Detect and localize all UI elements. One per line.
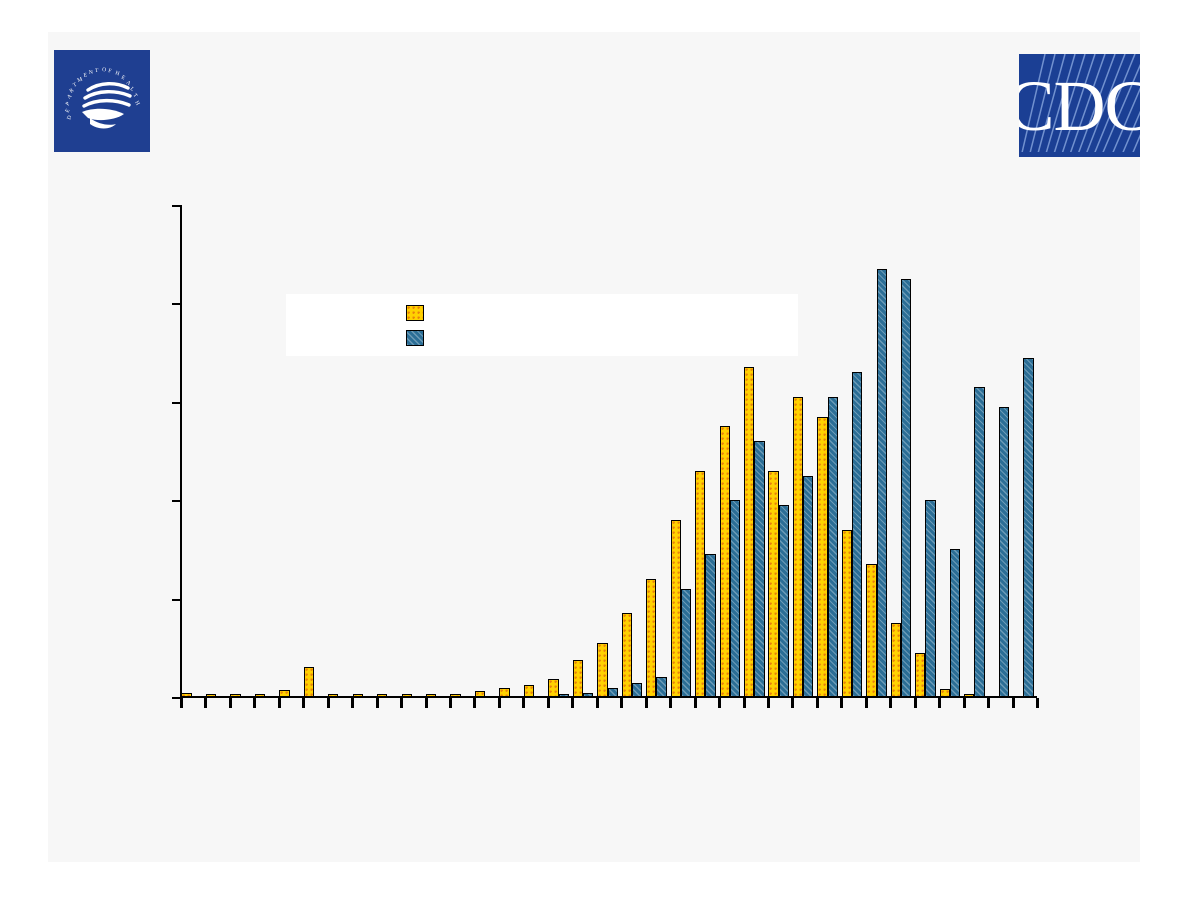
x-tick-17: [596, 698, 599, 708]
bar-series-yellow-23[interactable]: [720, 426, 730, 697]
x-tick-25: [791, 698, 794, 708]
bar-group[interactable]: [744, 205, 765, 697]
bar-series-blue-28[interactable]: [852, 372, 862, 697]
bar-series-yellow-12[interactable]: [450, 694, 460, 697]
x-tick-28: [865, 698, 868, 708]
bar-series-yellow-17[interactable]: [573, 660, 583, 697]
bar-group[interactable]: [793, 205, 814, 697]
x-tick-13: [498, 698, 501, 708]
x-tick-23: [743, 698, 746, 708]
bar-group[interactable]: [597, 205, 618, 697]
bar-group[interactable]: [279, 205, 300, 697]
bar-series-yellow-28[interactable]: [842, 530, 852, 697]
bar-series-yellow-5[interactable]: [279, 690, 289, 697]
bar-series-yellow-18[interactable]: [597, 643, 607, 697]
slide-canvas: D E P A R T M E N T O F H E A L T H: [48, 32, 1140, 862]
bar-group[interactable]: [646, 205, 667, 697]
y-tick-2: [172, 500, 180, 502]
bar-series-blue-26[interactable]: [803, 476, 813, 697]
x-tick-6: [327, 698, 330, 708]
bar-series-yellow-29[interactable]: [866, 564, 876, 697]
bar-series-blue-25[interactable]: [779, 505, 789, 697]
legend-entry-1: [406, 330, 434, 346]
x-tick-35: [1036, 698, 1039, 708]
x-tick-30: [914, 698, 917, 708]
bar-series-blue-22[interactable]: [705, 554, 715, 697]
bar-group[interactable]: [353, 205, 374, 697]
x-tick-31: [938, 698, 941, 708]
y-tick-3: [172, 402, 180, 404]
bar-series-blue-21[interactable]: [681, 589, 691, 697]
x-tick-19: [645, 698, 648, 708]
bar-group[interactable]: [891, 205, 912, 697]
bar-series-yellow-31[interactable]: [915, 653, 925, 697]
bar-group[interactable]: [695, 205, 716, 697]
bar-chart: [48, 32, 1140, 862]
bar-group[interactable]: [181, 205, 202, 697]
bar-group[interactable]: [622, 205, 643, 697]
yellow-dotted-swatch: [406, 305, 424, 321]
bar-series-blue-35[interactable]: [1023, 358, 1033, 697]
y-tick-1: [172, 599, 180, 601]
x-tick-34: [1012, 698, 1015, 708]
bar-group[interactable]: [304, 205, 325, 697]
bar-series-yellow-25[interactable]: [768, 471, 778, 697]
chart-legend: [286, 294, 798, 356]
x-tick-10: [425, 698, 428, 708]
x-tick-11: [449, 698, 452, 708]
x-tick-29: [889, 698, 892, 708]
bar-series-yellow-15[interactable]: [524, 685, 534, 697]
bar-group[interactable]: [255, 205, 276, 697]
bar-group[interactable]: [499, 205, 520, 697]
bar-group[interactable]: [573, 205, 594, 697]
bar-group[interactable]: [842, 205, 863, 697]
bar-group[interactable]: [720, 205, 741, 697]
bar-series-yellow-9[interactable]: [377, 694, 387, 697]
bar-series-yellow-8[interactable]: [353, 694, 363, 697]
bar-series-yellow-4[interactable]: [255, 694, 265, 697]
bar-group[interactable]: [230, 205, 251, 697]
bar-group[interactable]: [524, 205, 545, 697]
bar-series-blue-32[interactable]: [950, 549, 960, 697]
y-tick-0: [172, 697, 180, 699]
bar-series-yellow-27[interactable]: [817, 417, 827, 697]
bar-group[interactable]: [989, 205, 1010, 697]
x-tick-22: [718, 698, 721, 708]
bar-series-yellow-19[interactable]: [622, 613, 632, 697]
x-tick-20: [669, 698, 672, 708]
y-tick-4: [172, 303, 180, 305]
bar-series-blue-24[interactable]: [754, 441, 764, 697]
bar-series-yellow-11[interactable]: [426, 694, 436, 697]
bar-series-yellow-21[interactable]: [671, 520, 681, 697]
bar-series-blue-27[interactable]: [828, 397, 838, 697]
bar-group[interactable]: [671, 205, 692, 697]
bar-group[interactable]: [377, 205, 398, 697]
bar-series-yellow-10[interactable]: [402, 694, 412, 697]
x-tick-3: [253, 698, 256, 708]
bar-group[interactable]: [206, 205, 227, 697]
bar-group[interactable]: [328, 205, 349, 697]
bar-group[interactable]: [915, 205, 936, 697]
bar-series-yellow-1[interactable]: [181, 693, 191, 697]
bar-series-yellow-22[interactable]: [695, 471, 705, 697]
bar-series-blue-18[interactable]: [608, 688, 618, 697]
x-tick-2: [229, 698, 232, 708]
bar-series-blue-23[interactable]: [730, 500, 740, 697]
bar-series-blue-16[interactable]: [559, 694, 569, 697]
x-tick-16: [571, 698, 574, 708]
x-tick-4: [278, 698, 281, 708]
bar-series-blue-20[interactable]: [656, 677, 666, 697]
y-tick-5: [172, 205, 180, 207]
blue-hatched-swatch: [406, 330, 424, 346]
bar-series-blue-17[interactable]: [583, 693, 593, 697]
bar-series-blue-31[interactable]: [925, 500, 935, 697]
x-tick-24: [767, 698, 770, 708]
bar-group[interactable]: [866, 205, 887, 697]
bar-group[interactable]: [426, 205, 447, 697]
bar-group[interactable]: [768, 205, 789, 697]
x-tick-8: [376, 698, 379, 708]
plot-area: [180, 205, 1036, 697]
x-tick-27: [840, 698, 843, 708]
bar-group[interactable]: [964, 205, 985, 697]
bar-series-yellow-3[interactable]: [230, 694, 240, 697]
legend-entry-0: [406, 305, 434, 321]
x-tick-1: [204, 698, 207, 708]
x-tick-21: [694, 698, 697, 708]
bar-series-yellow-2[interactable]: [206, 694, 216, 697]
x-tick-14: [522, 698, 525, 708]
bar-series-blue-19[interactable]: [632, 683, 642, 697]
bar-group[interactable]: [1013, 205, 1034, 697]
bar-series-blue-34[interactable]: [999, 407, 1009, 697]
bar-series-yellow-13[interactable]: [475, 691, 485, 697]
bar-series-yellow-14[interactable]: [499, 688, 509, 697]
bar-series-blue-33[interactable]: [974, 387, 984, 697]
bar-series-blue-29[interactable]: [877, 269, 887, 697]
bar-series-yellow-20[interactable]: [646, 579, 656, 697]
x-tick-33: [987, 698, 990, 708]
bar-group[interactable]: [940, 205, 961, 697]
bar-series-yellow-33[interactable]: [964, 694, 974, 697]
bar-group[interactable]: [450, 205, 471, 697]
x-tick-18: [620, 698, 623, 708]
bar-series-yellow-6[interactable]: [304, 667, 314, 697]
bar-group-container: [180, 205, 1036, 697]
x-tick-7: [351, 698, 354, 708]
bar-series-yellow-26[interactable]: [793, 397, 803, 697]
bar-series-yellow-24[interactable]: [744, 367, 754, 697]
bar-series-blue-30[interactable]: [901, 279, 911, 697]
x-tick-5: [302, 698, 305, 708]
bar-series-yellow-7[interactable]: [328, 694, 338, 697]
bar-series-yellow-16[interactable]: [548, 679, 558, 697]
x-tick-0: [180, 698, 183, 708]
x-tick-26: [816, 698, 819, 708]
bar-group[interactable]: [548, 205, 569, 697]
bar-group[interactable]: [402, 205, 423, 697]
x-tick-15: [547, 698, 550, 708]
x-tick-9: [400, 698, 403, 708]
bar-group[interactable]: [817, 205, 838, 697]
x-tick-32: [963, 698, 966, 708]
bar-series-yellow-32[interactable]: [940, 689, 950, 697]
bar-series-yellow-30[interactable]: [891, 623, 901, 697]
bar-group[interactable]: [475, 205, 496, 697]
x-tick-12: [473, 698, 476, 708]
